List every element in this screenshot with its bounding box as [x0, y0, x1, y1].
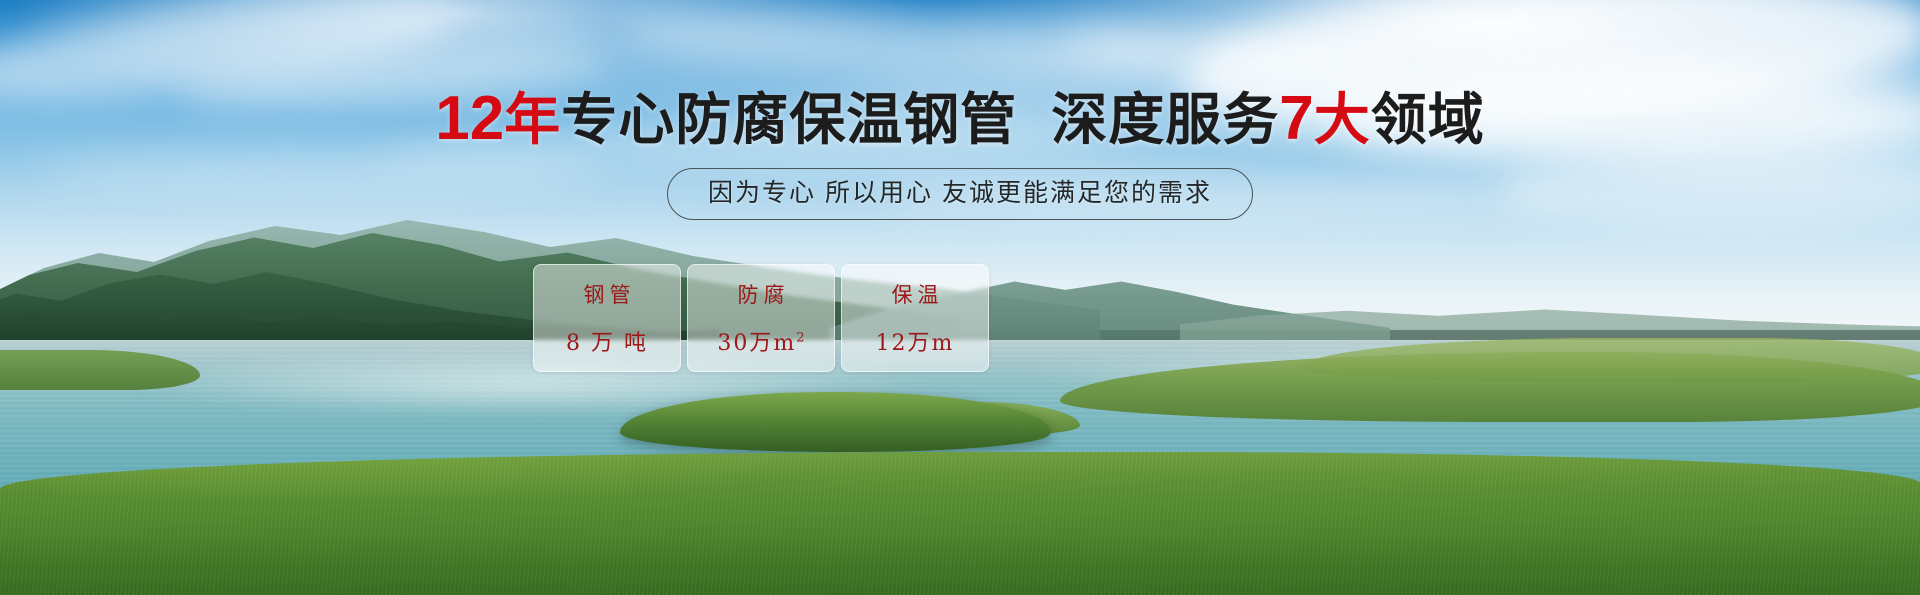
stat-card-value: 12万m: [876, 325, 955, 357]
headline-fields-number: 7: [1279, 84, 1313, 153]
subtitle-container: 因为专心 所以用心 友诚更能满足您的需求: [0, 168, 1920, 220]
stat-card-title: 防腐: [733, 279, 790, 309]
stat-card-value: 8 万 吨: [566, 325, 648, 357]
headline-main-text: 专心防腐保温钢管: [561, 88, 1017, 151]
stat-card-value-superscript: 2: [796, 331, 804, 346]
headline-fields-text: 领域: [1371, 88, 1485, 151]
stat-card-title: 钢管: [579, 279, 636, 309]
stat-card-group: 钢管 8 万 吨 防腐 30万m2 保温 12万m: [533, 264, 989, 372]
stat-card-value-text: 30万m: [717, 331, 796, 356]
stat-card-title: 保温: [887, 279, 944, 309]
stat-card-steel-pipe[interactable]: 钢管 8 万 吨: [533, 264, 681, 372]
headline-years-unit: 年: [504, 88, 561, 151]
banner-subtitle: 因为专心 所以用心 友诚更能满足您的需求: [667, 168, 1253, 220]
banner-headline: 12年专心防腐保温钢管深度服务7大领域: [0, 88, 1920, 150]
stat-card-insulation[interactable]: 保温 12万m: [841, 264, 989, 372]
stat-card-anticorrosion[interactable]: 防腐 30万m2: [687, 264, 835, 372]
stat-card-value-text: 8 万 吨: [566, 331, 648, 356]
stat-card-value-text: 12万m: [876, 331, 955, 356]
headline-service-text: 深度服务: [1051, 88, 1279, 151]
stat-card-value: 30万m2: [717, 325, 804, 357]
headline-years-number: 12: [435, 84, 504, 153]
headline-fields-unit: 大: [1314, 88, 1371, 151]
promo-banner: 12年专心防腐保温钢管深度服务7大领域 因为专心 所以用心 友诚更能满足您的需求…: [0, 0, 1920, 595]
grass-foreground: [0, 452, 1920, 595]
